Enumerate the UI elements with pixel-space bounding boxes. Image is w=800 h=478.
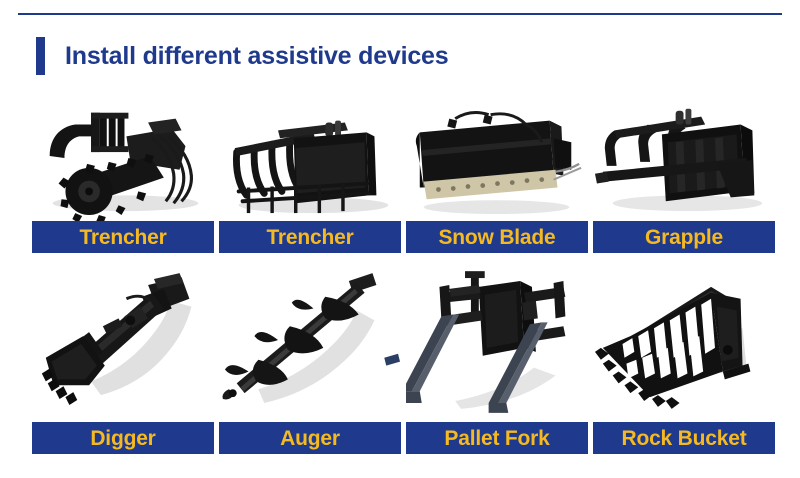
product-card[interactable]: Trencher (32, 92, 214, 253)
product-card[interactable]: Trencher (219, 92, 401, 253)
product-image-rock-bucket (593, 262, 775, 422)
product-label-bar: Grapple (593, 221, 775, 253)
pallet-fork-attachment-icon (406, 262, 588, 422)
snow-blade-attachment-icon (406, 92, 588, 221)
product-image-trencher-rake (219, 92, 401, 221)
product-image-grapple (593, 92, 775, 221)
product-image-pallet-fork (406, 262, 588, 422)
page-title: Install different assistive devices (65, 44, 448, 69)
product-image-auger (219, 262, 401, 422)
product-catalog-page: Install different assistive devices (0, 0, 800, 478)
product-label-bar: Rock Bucket (593, 422, 775, 454)
trencher-attachment-icon (32, 92, 214, 221)
header-accent-bar (36, 37, 45, 75)
product-label: Pallet Fork (444, 428, 549, 449)
product-label: Auger (280, 428, 340, 449)
header-divider-rule (18, 13, 782, 15)
backhoe-digger-attachment-icon (32, 262, 214, 422)
product-image-trencher (32, 92, 214, 221)
product-image-snow-blade (406, 92, 588, 221)
product-card[interactable]: Pallet Fork (406, 262, 588, 454)
product-label-bar: Digger (32, 422, 214, 454)
rock-bucket-attachment-icon (593, 262, 775, 422)
product-image-digger (32, 262, 214, 422)
product-label: Rock Bucket (621, 428, 746, 449)
page-header: Install different assistive devices (36, 36, 448, 76)
root-grapple-rake-attachment-icon (219, 92, 401, 221)
product-label-bar: Pallet Fork (406, 422, 588, 454)
product-label: Snow Blade (438, 227, 555, 248)
product-grid: Trencher (32, 92, 775, 454)
product-card[interactable]: Snow Blade (406, 92, 588, 253)
product-card[interactable]: Grapple (593, 92, 775, 253)
product-label: Trencher (266, 227, 353, 248)
product-label-bar: Trencher (32, 221, 214, 253)
grapple-attachment-icon (593, 92, 775, 221)
product-label-bar: Auger (219, 422, 401, 454)
product-label: Digger (90, 428, 155, 449)
auger-attachment-icon (219, 262, 401, 422)
product-card[interactable]: Digger (32, 262, 214, 454)
product-label: Trencher (79, 227, 166, 248)
product-label-bar: Snow Blade (406, 221, 588, 253)
product-card[interactable]: Auger (219, 262, 401, 454)
product-label: Grapple (645, 227, 723, 248)
product-card[interactable]: Rock Bucket (593, 262, 775, 454)
product-label-bar: Trencher (219, 221, 401, 253)
